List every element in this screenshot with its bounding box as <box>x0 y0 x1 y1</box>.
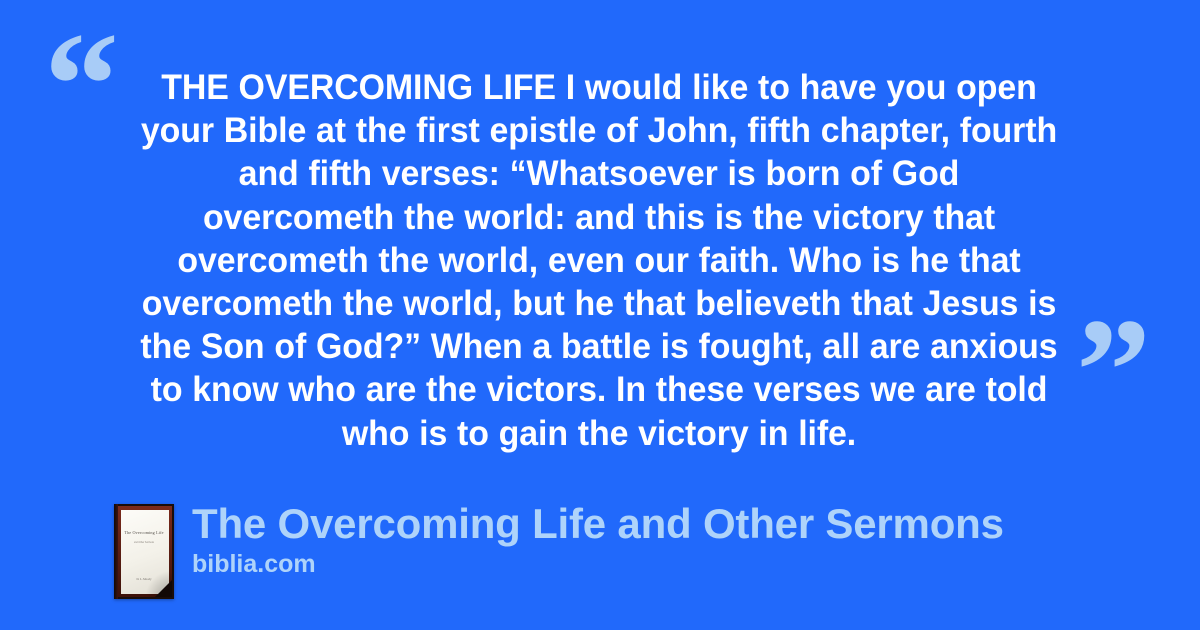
book-cover-thumbnail[interactable]: The Overcoming Life and Other Sermons D.… <box>114 504 174 599</box>
book-cover-subtitle: and Other Sermons <box>114 541 174 544</box>
closing-quote-icon: ” <box>1076 296 1149 446</box>
quote-text: THE OVERCOMING LIFE I would like to have… <box>140 66 1059 455</box>
book-spine <box>114 504 118 599</box>
page-curl-icon <box>155 580 172 597</box>
footer: The Overcoming Life and Other Sermons D.… <box>114 500 1004 599</box>
site-name[interactable]: biblia.com <box>192 549 1004 579</box>
book-title: The Overcoming Life and Other Sermons <box>192 500 1004 548</box>
footer-text-group: The Overcoming Life and Other Sermons bi… <box>192 500 1004 579</box>
quote-card: “ THE OVERCOMING LIFE I would like to ha… <box>0 0 1200 630</box>
book-cover-title: The Overcoming Life <box>114 530 174 535</box>
opening-quote-icon: “ <box>44 10 117 160</box>
quote-area: “ THE OVERCOMING LIFE I would like to ha… <box>0 0 1200 470</box>
